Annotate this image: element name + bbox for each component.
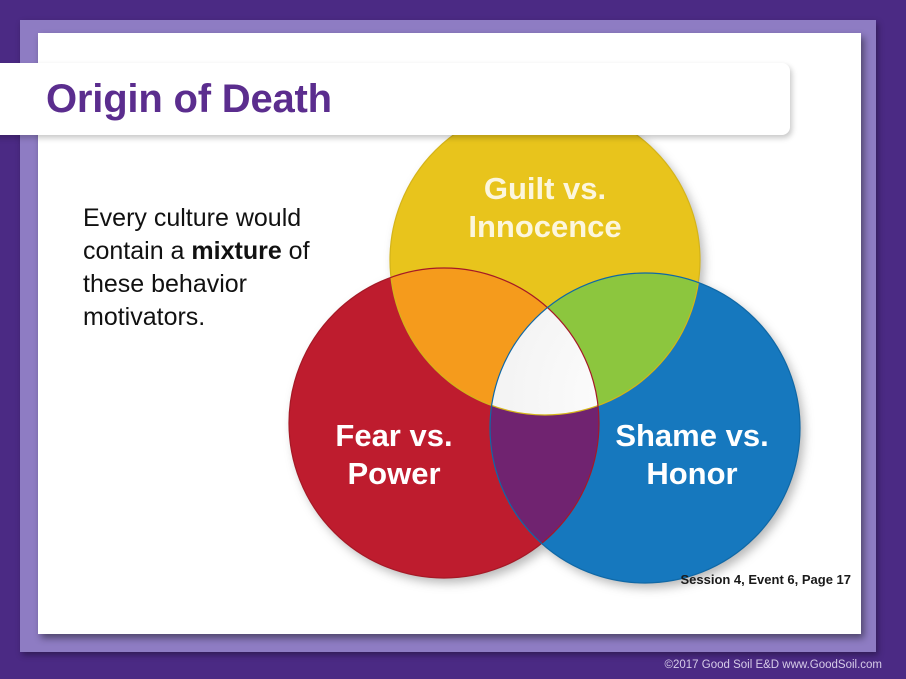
venn-label-shame-line1: Shame vs. <box>615 418 768 453</box>
venn-label-shame-line2: Honor <box>646 456 737 491</box>
venn-label-fear-line2: Power <box>347 456 440 491</box>
venn-label-guilt-line1: Guilt vs. <box>484 171 606 206</box>
venn-label-fear-line1: Fear vs. <box>335 418 452 453</box>
copyright-notice: ©2017 Good Soil E&D www.GoodSoil.com <box>665 659 883 671</box>
body-text-emphasis: mixture <box>191 237 281 265</box>
slide-canvas: Guilt vs. Innocence Fear vs. Power Shame… <box>0 0 906 679</box>
venn-label-guilt-line2: Innocence <box>468 209 621 244</box>
body-paragraph: Every culture would contain a mixture of… <box>83 202 355 334</box>
slide-title-bar: Origin of Death <box>0 63 790 135</box>
session-note: Session 4, Event 6, Page 17 <box>680 572 851 587</box>
page-title: Origin of Death <box>46 79 332 119</box>
